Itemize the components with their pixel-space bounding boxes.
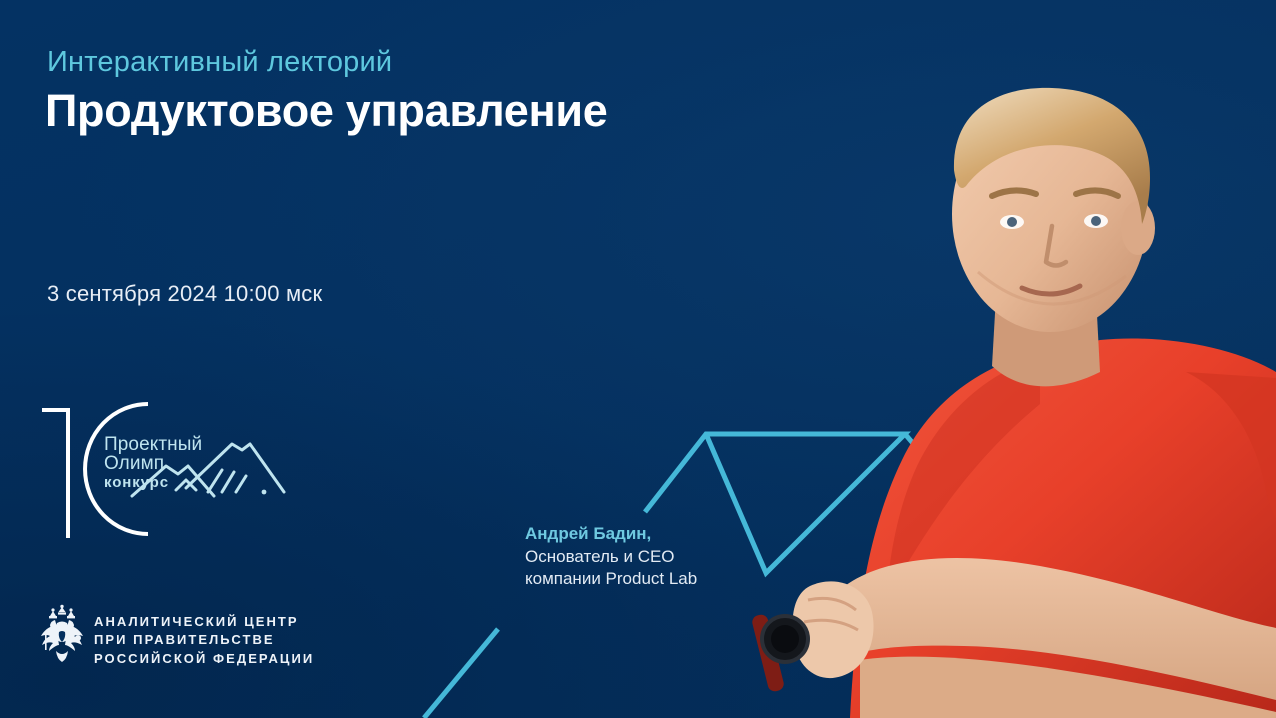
anniversary-line-3: конкурс: [104, 475, 202, 490]
anniversary-line-1: Проектный: [104, 435, 202, 454]
speaker-caption: Андрей Бадин, Основатель и CEO компании …: [525, 523, 697, 591]
government-line-2: ПРИ ПРАВИТЕЛЬСТВЕ: [94, 631, 314, 649]
government-line-1: АНАЛИТИЧЕСКИЙ ЦЕНТР: [94, 613, 314, 631]
numeral-one-icon: [42, 410, 68, 538]
mountain-dot-icon: [262, 490, 267, 495]
speaker-role-line2: компании Product Lab: [525, 568, 697, 591]
anniversary-logo: Проектный Олимп конкурс: [36, 388, 290, 540]
anniversary-line-2: Олимп: [104, 454, 202, 473]
page-title: Продуктовое управление: [45, 85, 608, 137]
government-line-3: РОССИЙСКОЙ ФЕДЕРАЦИИ: [94, 650, 314, 668]
event-datetime: 3 сентября 2024 10:00 мск: [47, 281, 322, 307]
speaker-watch: [751, 613, 808, 693]
anniversary-logo-wordmark: Проектный Олимп конкурс: [104, 435, 202, 490]
government-logo: АНАЛИТИЧЕСКИЙ ЦЕНТР ПРИ ПРАВИТЕЛЬСТВЕ РО…: [36, 604, 306, 666]
poster-canvas: Интерактивный лекторий Продуктовое управ…: [0, 0, 1276, 718]
russian-double-headed-eagle-icon: [36, 604, 88, 666]
speaker-role-line1: Основатель и CEO: [525, 546, 697, 569]
government-logo-wordmark: АНАЛИТИЧЕСКИЙ ЦЕНТР ПРИ ПРАВИТЕЛЬСТВЕ РО…: [94, 613, 314, 668]
speaker-name: Андрей Бадин,: [525, 523, 697, 546]
poster-subtitle: Интерактивный лекторий: [47, 46, 392, 79]
